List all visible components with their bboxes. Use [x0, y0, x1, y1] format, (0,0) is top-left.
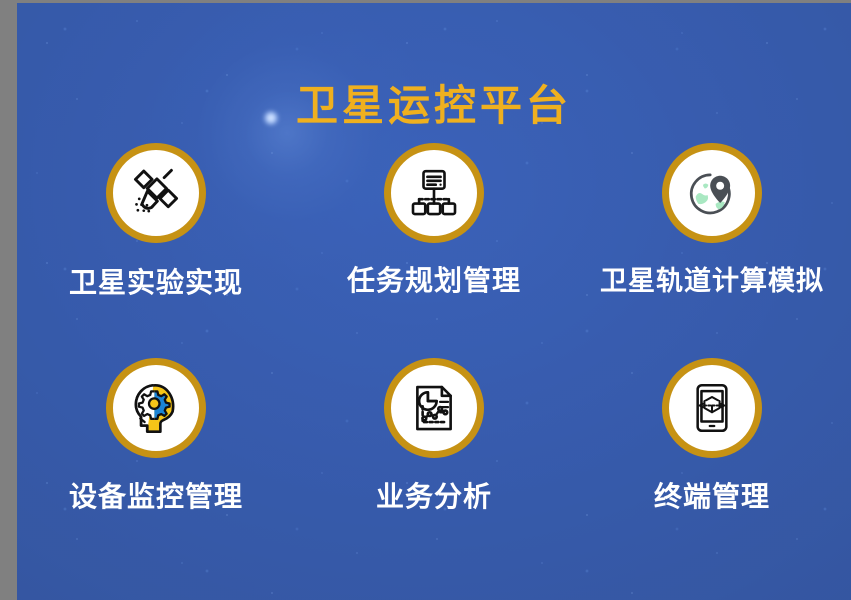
module-tile-terminal-management[interactable]: 终端管理 [573, 358, 851, 573]
module-label: 设备监控管理 [69, 483, 243, 511]
module-label: 任务规划管理 [347, 267, 521, 295]
module-icon-ring[interactable] [106, 143, 206, 243]
org-chart-icon [406, 165, 462, 221]
page-title: 卫星运控平台 [17, 81, 851, 131]
module-grid: 卫星实验实现 [17, 143, 851, 573]
module-icon-ring[interactable] [662, 358, 762, 458]
module-icon-ring[interactable] [384, 143, 484, 243]
globe-pin-icon [683, 164, 741, 222]
module-label: 卫星轨道计算模拟 [600, 268, 824, 295]
module-label: 业务分析 [376, 483, 492, 511]
head-gear-icon [128, 380, 184, 436]
tablet-cube-icon [685, 381, 739, 435]
module-tile-satellite-experiment[interactable]: 卫星实验实现 [17, 143, 295, 358]
report-chart-icon [406, 380, 462, 436]
module-icon-ring[interactable] [106, 358, 206, 458]
module-tile-task-planning[interactable]: 任务规划管理 [295, 143, 573, 358]
satellite-icon [127, 164, 185, 222]
module-icon-ring[interactable] [384, 358, 484, 458]
module-tile-business-analysis[interactable]: 业务分析 [295, 358, 573, 573]
app-frame: 卫星运控平台 [0, 0, 851, 600]
module-tile-orbit-simulation[interactable]: 卫星轨道计算模拟 [573, 143, 851, 358]
module-label: 卫星实验实现 [69, 269, 243, 297]
module-tile-device-monitoring[interactable]: 设备监控管理 [17, 358, 295, 573]
module-label: 终端管理 [654, 483, 770, 511]
dashboard-stage: 卫星运控平台 [17, 3, 851, 600]
module-icon-ring[interactable] [662, 143, 762, 243]
